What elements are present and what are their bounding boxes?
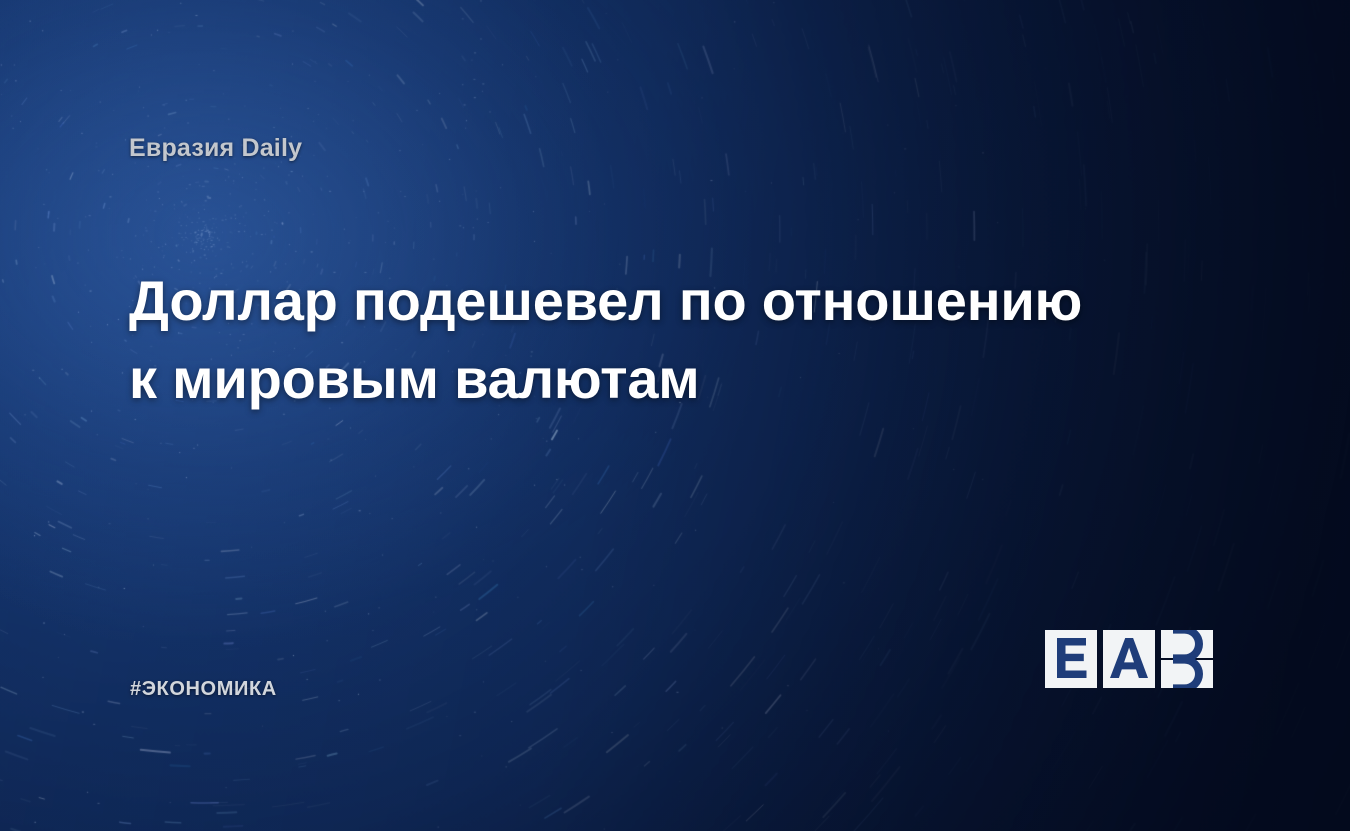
ead-logo-icon	[1045, 630, 1221, 688]
headline: Доллар подешевел по отношению к мировым …	[129, 262, 1089, 418]
site-name: Евразия Daily	[129, 134, 302, 163]
logo-tile-d-top	[1161, 630, 1213, 658]
logo-tile-d-bottom	[1161, 660, 1213, 688]
news-card: Евразия Daily Доллар подешевел по отноше…	[0, 0, 1350, 831]
logo-glyph-e	[1057, 638, 1087, 678]
ead-logo[interactable]	[1045, 630, 1221, 688]
category-tag: #ЭКОНОМИКА	[130, 678, 277, 701]
headline-line-1: Доллар подешевел по отношению	[129, 262, 1089, 340]
headline-line-2: к мировым валютам	[129, 340, 1089, 418]
card-content: Евразия Daily Доллар подешевел по отноше…	[0, 0, 1350, 831]
